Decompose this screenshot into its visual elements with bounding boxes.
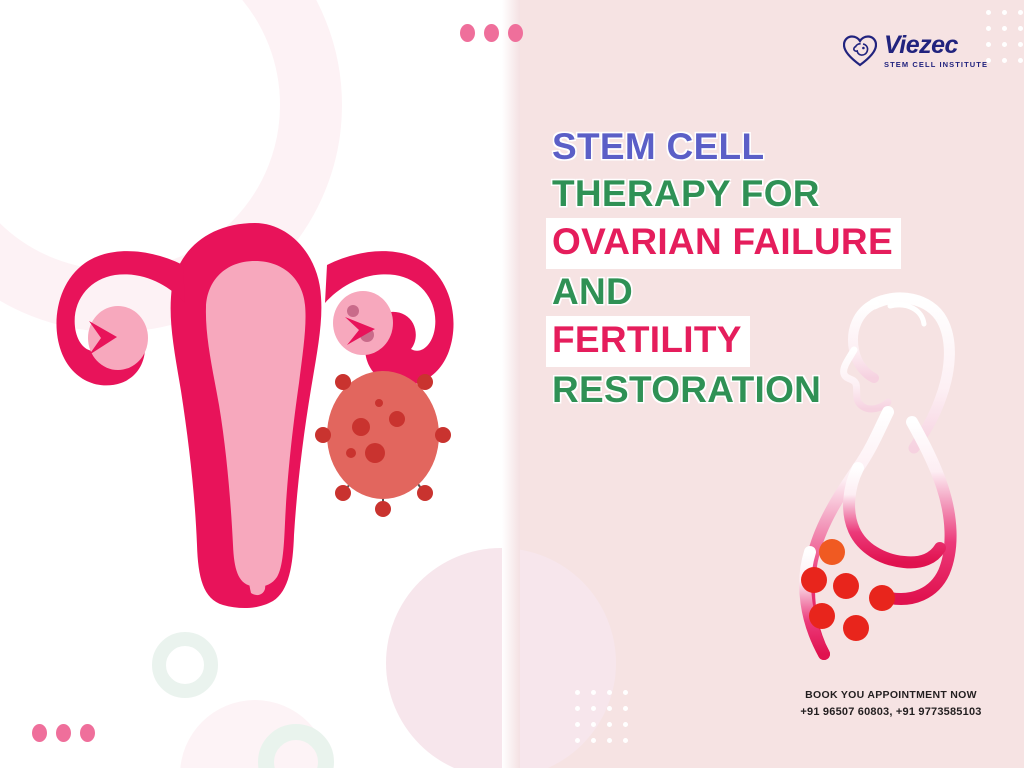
headline-text-1: STEM CELL: [552, 126, 764, 167]
uterus-illustration: [45, 205, 465, 635]
heart-fetus-icon: [843, 35, 877, 67]
pregnant-woman-svg: [762, 272, 992, 672]
headline-line-3: OVARIAN FAILURE: [552, 218, 992, 269]
brand-name: Viezec: [884, 33, 988, 58]
logo-text-block: Viezec STEM CELL INSTITUTE: [884, 33, 988, 69]
stemcell-dot: [843, 615, 869, 641]
left-ovary: [88, 306, 148, 370]
pregnant-woman-illustration: [762, 272, 992, 672]
headline-line-1: STEM CELL: [552, 124, 992, 171]
brand-logo[interactable]: Viezec STEM CELL INSTITUTE: [843, 33, 988, 69]
belly-contour-stroke: [849, 468, 940, 562]
ovary-spot: [347, 305, 359, 317]
fetus-head-dot: [862, 46, 865, 49]
stemcell-dot: [801, 567, 827, 593]
uterus-svg: [45, 205, 465, 635]
appointment-cta-text: BOOK YOU APPOINTMENT NOW: [796, 688, 986, 704]
contact-block: BOOK YOU APPOINTMENT NOW +91 96507 60803…: [796, 688, 986, 720]
right-ovary: [333, 291, 393, 355]
stemcell-dot: [819, 539, 845, 565]
hair-back-stroke: [853, 304, 874, 378]
face-profile-stroke: [844, 350, 888, 409]
stemcell-dot: [833, 573, 859, 599]
fetus-outline: [854, 44, 868, 55]
brand-tagline: STEM CELL INSTITUTE: [884, 61, 988, 69]
stemcell-dot: [809, 603, 835, 629]
headline-text-5: FERTILITY: [546, 316, 750, 367]
heart-outline: [844, 36, 876, 65]
hair-highlight: [890, 305, 924, 324]
headline-text-2: THERAPY FOR: [552, 173, 820, 214]
headline-text-3: OVARIAN FAILURE: [546, 218, 901, 269]
headline-text-4: AND: [552, 271, 633, 312]
arm-contour-stroke: [890, 422, 951, 599]
stemcell-dot: [869, 585, 895, 611]
cyst-body: [327, 371, 439, 499]
poster-canvas: Viezec STEM CELL INSTITUTE STEM CELL THE…: [0, 0, 1024, 768]
cervical-canal: [248, 535, 266, 595]
headline-line-2: THERAPY FOR: [552, 171, 992, 218]
phone-numbers[interactable]: +91 96507 60803, +91 9773585103: [796, 704, 986, 721]
